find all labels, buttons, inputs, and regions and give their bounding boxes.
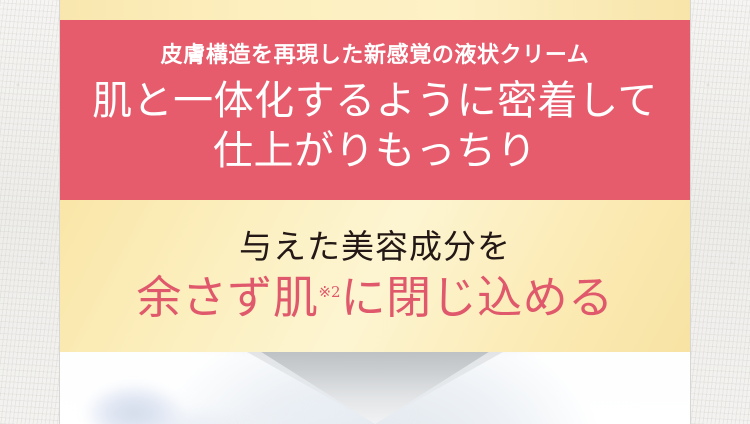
cream-message-band: 与えた美容成分を 余さず肌※2に閉じ込める [50,200,700,352]
pink-band-headline-line-1: 肌と一体化するように密着して [92,76,658,126]
cream-band-line-1: 与えた美容成分を [239,228,511,266]
cream-band-line-2: 余さず肌※2に閉じ込める [136,272,613,324]
pink-headline-band: 皮膚構造を再現した新感覚の液状クリーム 肌と一体化するように密着して 仕上がりも… [50,20,700,200]
footnote-marker: ※2 [318,284,340,301]
cream-line-2-prefix: 余さず肌 [136,272,318,324]
paper-texture-left-margin [0,0,60,424]
promo-screenshot: 皮膚構造を再現した新感覚の液状クリーム 肌と一体化するように密着して 仕上がりも… [0,0,750,424]
promo-card: 皮膚構造を再現した新感覚の液状クリーム 肌と一体化するように密着して 仕上がりも… [50,0,700,352]
cream-accent-strip [50,0,700,20]
pink-band-kicker: 皮膚構造を再現した新感覚の液状クリーム [161,44,590,68]
cream-line-2-suffix: に閉じ込める [341,272,614,324]
paper-texture-right-margin [690,0,750,424]
pink-band-headline-line-2: 仕上がりもっちり [213,126,537,176]
